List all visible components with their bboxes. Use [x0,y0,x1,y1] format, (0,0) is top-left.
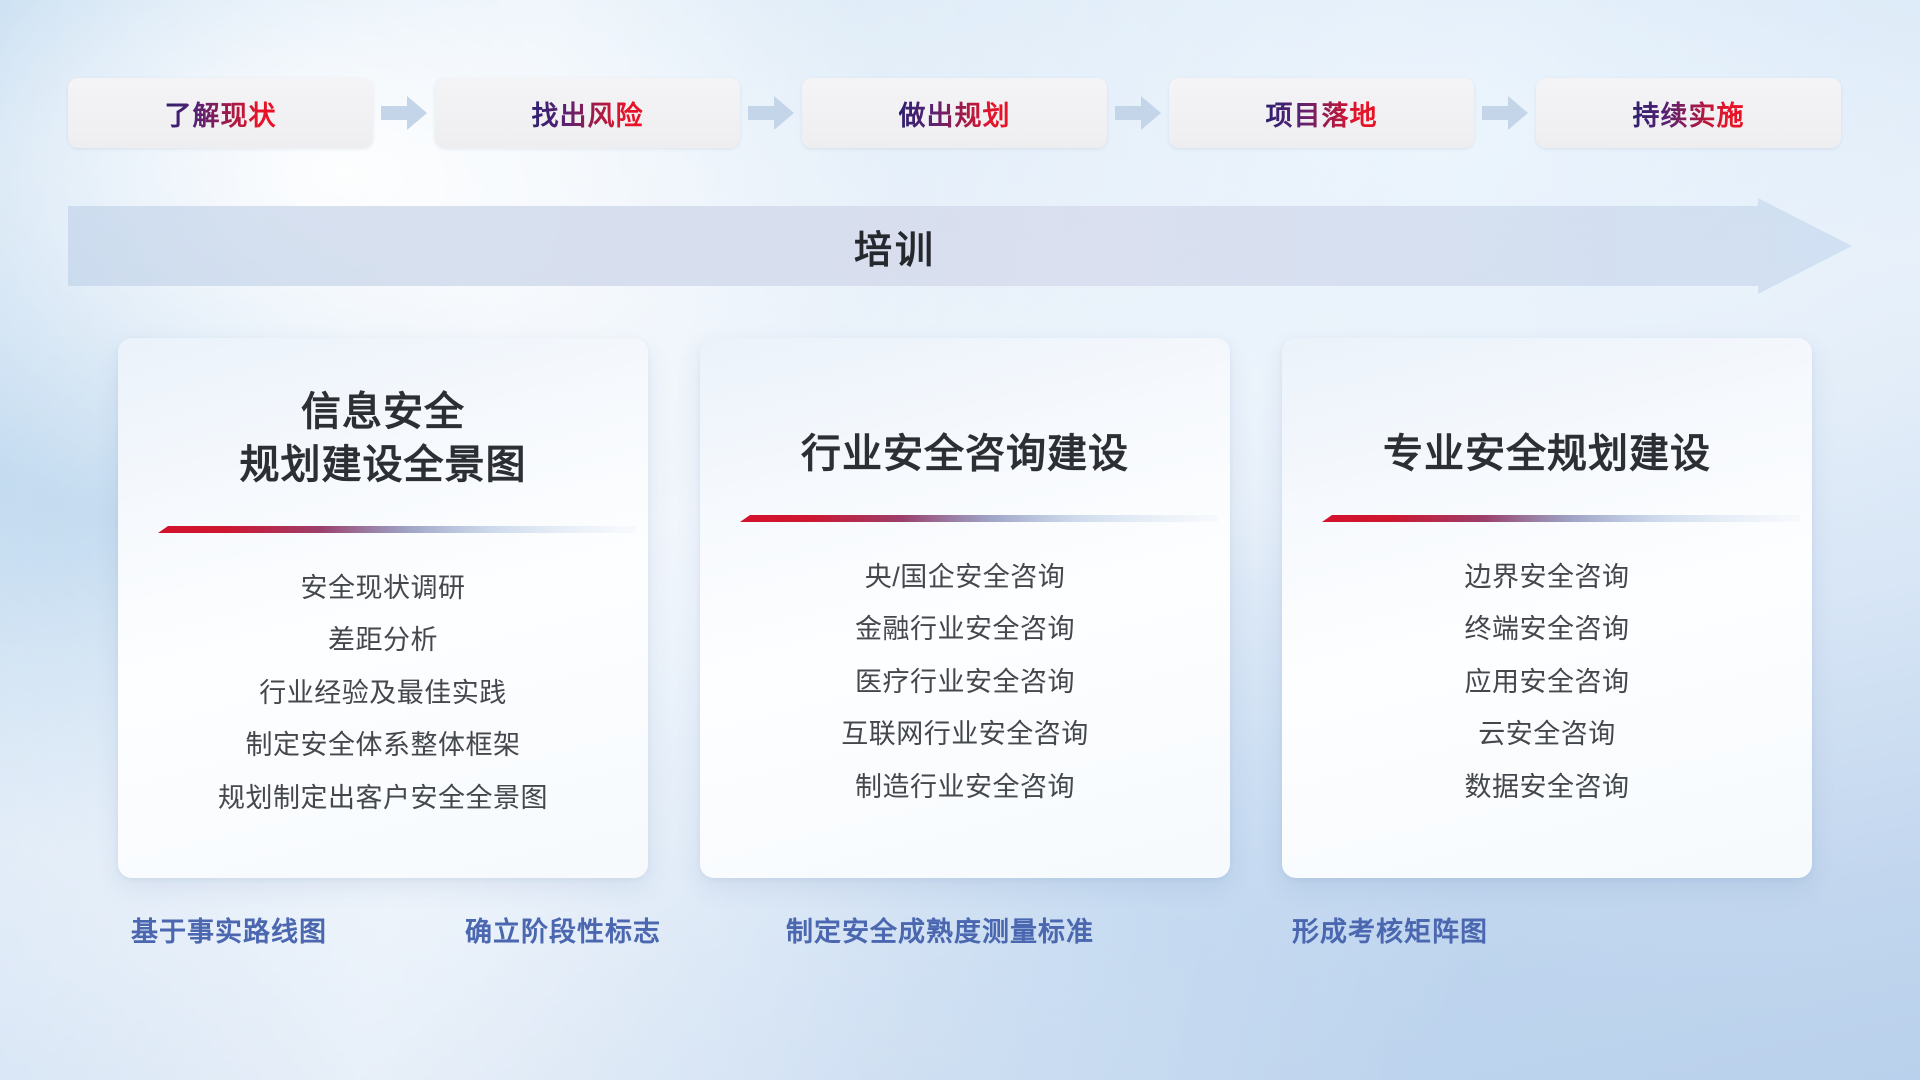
step-label: 找出风险 [532,94,644,133]
step-label: 持续实施 [1633,94,1745,133]
card-item-list: 边界安全咨询 终端安全咨询 应用安全咨询 云安全咨询 数据安全咨询 [1308,557,1786,808]
list-item: 差距分析 [328,620,438,661]
card-professional-security-planning[interactable]: 专业安全规划建设 边界安全咨询 终端安全咨询 应用安 [1282,338,1812,878]
list-item: 制造行业安全咨询 [855,767,1075,808]
step-box-4[interactable]: 项目落地 [1169,78,1474,148]
footer-label-maturity-standard: 制定安全成熟度测量标准 [786,910,1094,949]
list-item: 央/国企安全咨询 [865,557,1066,598]
card-title: 信息安全 规划建设全景图 [144,386,622,492]
card-item-list: 安全现状调研 差距分析 行业经验及最佳实践 制定安全体系整体框架 规划制定出客户… [144,568,622,819]
step-arrow-icon [373,78,435,148]
list-item: 数据安全咨询 [1465,767,1630,808]
step-box-3[interactable]: 做出规划 [802,78,1107,148]
card-divider [158,526,598,534]
card-industry-security-consulting[interactable]: 行业安全咨询建设 央/国企安全咨询 金融行业安全咨询 [700,338,1230,878]
card-row: 信息安全 规划建设全景图 安全现状调研 差距分析 行 [0,338,1920,878]
card-divider [1322,515,1762,523]
footer-label-assessment-matrix: 形成考核矩阵图 [1292,910,1488,949]
list-item: 规划制定出客户安全全景图 [218,778,548,819]
list-item: 云安全咨询 [1478,714,1616,755]
training-banner: 培训 [68,198,1852,294]
card-divider [740,515,1180,523]
step-arrow-icon [740,78,802,148]
step-box-5[interactable]: 持续实施 [1536,78,1841,148]
list-item: 应用安全咨询 [1465,662,1630,703]
footer-label-roadmap: 基于事实路线图 [131,910,327,949]
list-item: 医疗行业安全咨询 [855,662,1075,703]
list-item: 边界安全咨询 [1465,557,1630,598]
step-label: 项目落地 [1266,94,1378,133]
list-item: 行业经验及最佳实践 [259,673,507,714]
list-item: 互联网行业安全咨询 [841,714,1089,755]
list-item: 终端安全咨询 [1465,609,1630,650]
step-box-1[interactable]: 了解现状 [68,78,373,148]
banner-title: 培训 [68,198,1852,294]
step-box-2[interactable]: 找出风险 [435,78,740,148]
card-title: 专业安全规划建设 [1308,428,1786,481]
step-label: 做出规划 [899,94,1011,133]
card-item-list: 央/国企安全咨询 金融行业安全咨询 医疗行业安全咨询 互联网行业安全咨询 制造行… [726,557,1204,808]
step-arrow-icon [1474,78,1536,148]
footer-label-milestones: 确立阶段性标志 [465,910,661,949]
list-item: 制定安全体系整体框架 [246,725,521,766]
card-information-security-blueprint[interactable]: 信息安全 规划建设全景图 安全现状调研 差距分析 行 [118,338,648,878]
step-label: 了解现状 [165,94,277,133]
list-item: 金融行业安全咨询 [855,609,1075,650]
list-item: 安全现状调研 [301,568,466,609]
step-arrow-icon [1107,78,1169,148]
card-title: 行业安全咨询建设 [726,428,1204,481]
process-step-row: 了解现状 找出风险 做出规划 项目落地 持续实施 [68,78,1852,148]
footer-label-row: 基于事实路线图 确立阶段性标志 制定安全成熟度测量标准 形成考核矩阵图 [0,910,1920,962]
